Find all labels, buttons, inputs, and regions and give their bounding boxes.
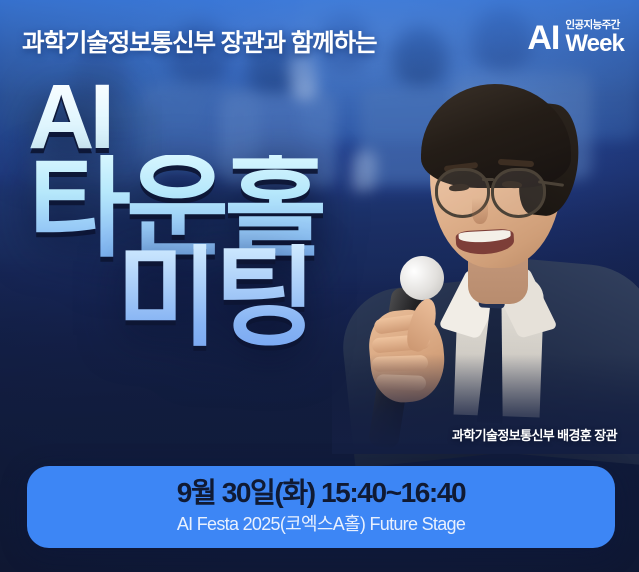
event-info-card: 9월 30일(화) 15:40~16:40 AI Festa 2025(코엑스A… <box>27 466 615 548</box>
poster-title: AI 타운홀 미팅 <box>28 74 448 350</box>
ai-week-logo: AI 인공지능주간 Week <box>527 20 624 56</box>
event-date-time: 9월 30일(화) 15:40~16:40 <box>177 478 465 509</box>
logo-week-text: Week <box>565 32 624 56</box>
nose <box>472 198 488 224</box>
logo-korean-label: 인공지능주간 <box>565 20 624 31</box>
logo-ai-text: AI <box>527 21 559 55</box>
headline-text: 과학기술정보통신부 장관과 함께하는 <box>22 24 376 59</box>
eyeglasses-bridge <box>482 178 494 181</box>
logo-text-stack: 인공지능주간 Week <box>565 20 624 56</box>
event-poster: 과학기술정보통신부 장관과 함께하는 AI 인공지능주간 Week AI 타운홀… <box>0 0 639 572</box>
title-line-3: 미팅 <box>116 244 448 350</box>
speaker-caption: 과학기술정보통신부 배경훈 장관 <box>452 425 617 444</box>
teeth <box>458 230 511 244</box>
event-venue: AI Festa 2025(코엑스A홀) Future Stage <box>177 510 465 536</box>
eyeglasses-lens-right <box>491 168 546 218</box>
